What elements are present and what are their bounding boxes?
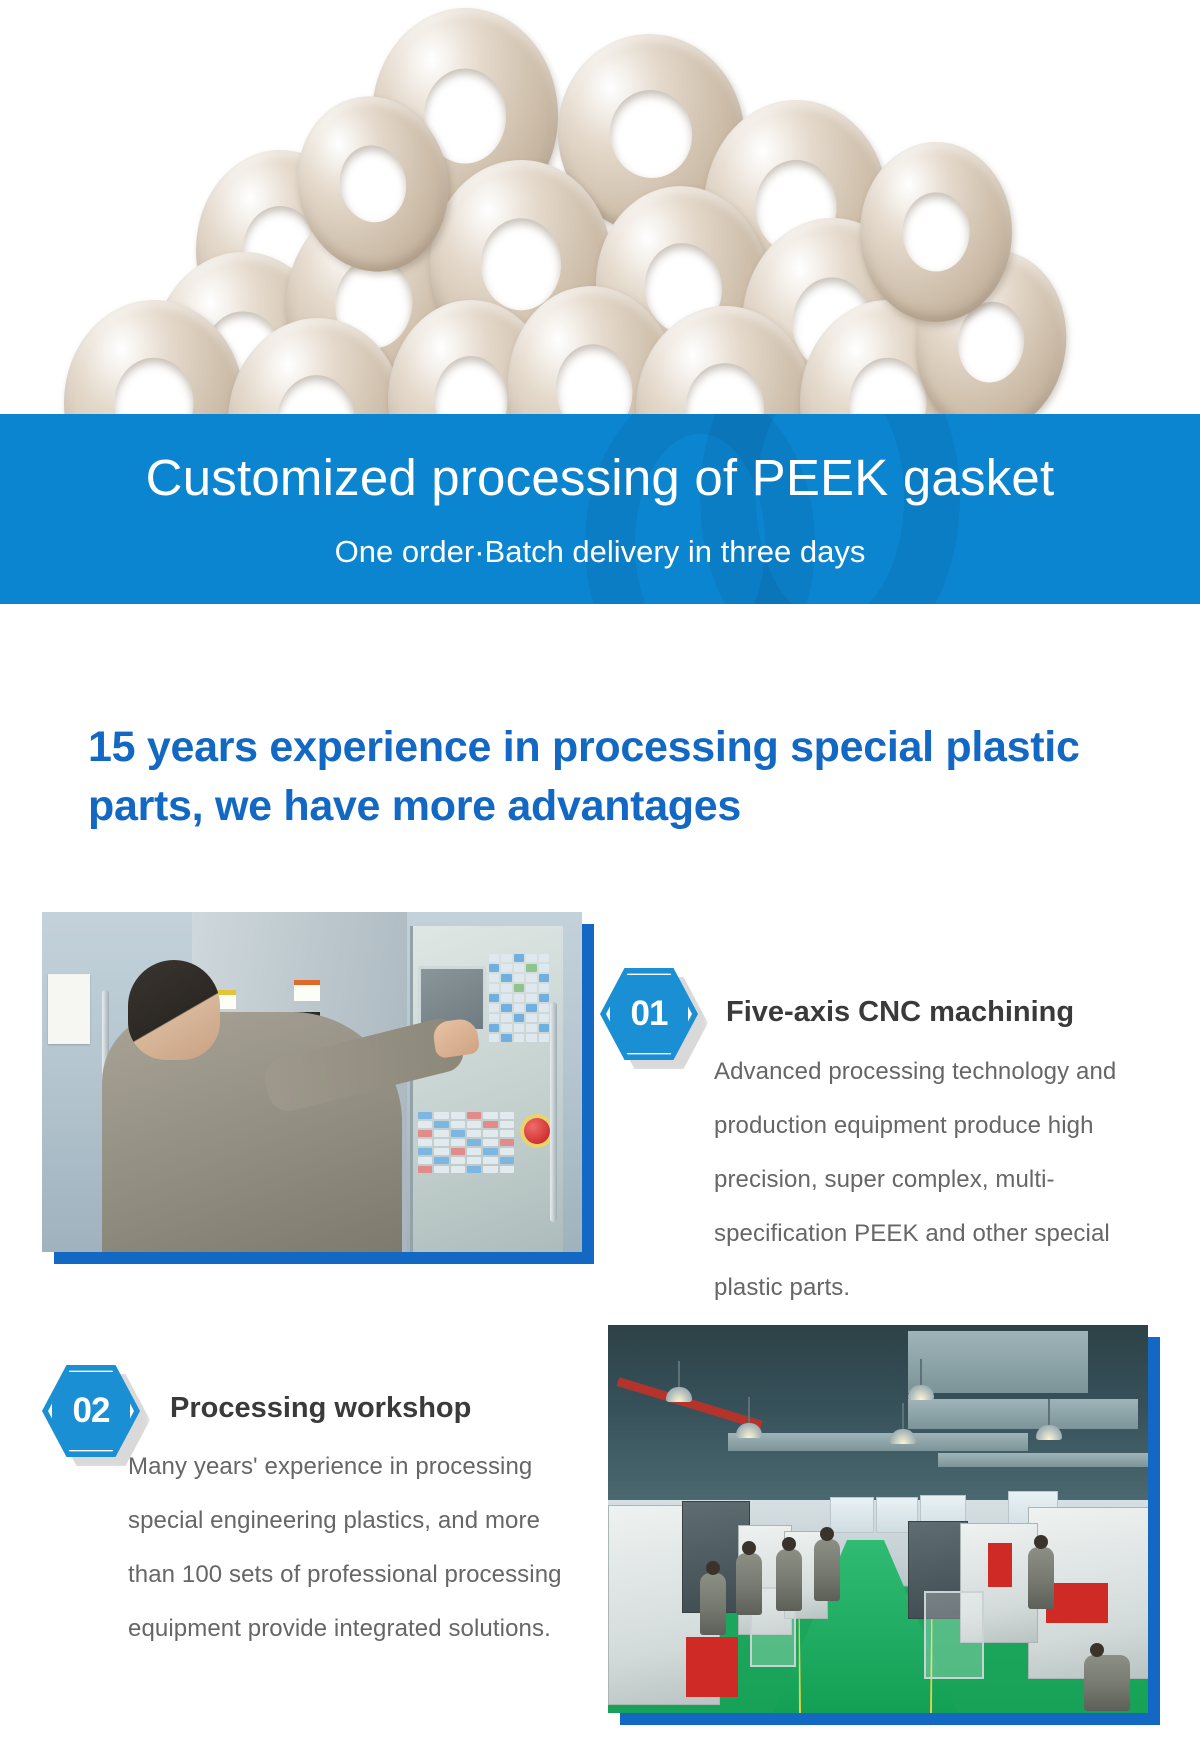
feature-title-01: Five-axis CNC machining xyxy=(726,996,1074,1029)
section-heading: 15 years experience in processing specia… xyxy=(88,718,1143,836)
hero-product-image xyxy=(0,0,1200,470)
feature-badge-number: 02 xyxy=(42,1362,140,1460)
banner-title: Customized processing of PEEK gasket xyxy=(0,448,1200,507)
cnc-photo-canvas xyxy=(42,912,582,1252)
feature-title-02: Processing workshop xyxy=(170,1392,471,1425)
feature-badge-02: 02 xyxy=(42,1362,140,1460)
cnc-lower-keypad xyxy=(418,1112,514,1176)
feature-badge-number: 01 xyxy=(600,965,698,1063)
feature-badge-01: 01 xyxy=(600,965,698,1063)
ring-watermark-secondary-icon xyxy=(585,414,815,604)
workshop-interior-photo xyxy=(608,1325,1148,1713)
peek-gasket-pile-photo xyxy=(0,0,1200,470)
feature-body-02: Many years' experience in processing spe… xyxy=(128,1440,566,1656)
feature-body-01: Advanced processing technology and produ… xyxy=(714,1045,1148,1315)
hero-banner: Customized processing of PEEK gasket One… xyxy=(0,414,1200,604)
workshop-photo-canvas xyxy=(608,1325,1148,1713)
banner-subtitle: One order·Batch delivery in three days xyxy=(0,534,1200,570)
cnc-operator-photo xyxy=(42,912,582,1252)
emergency-stop-button-icon xyxy=(524,1118,550,1144)
cnc-keypad xyxy=(489,954,549,1054)
